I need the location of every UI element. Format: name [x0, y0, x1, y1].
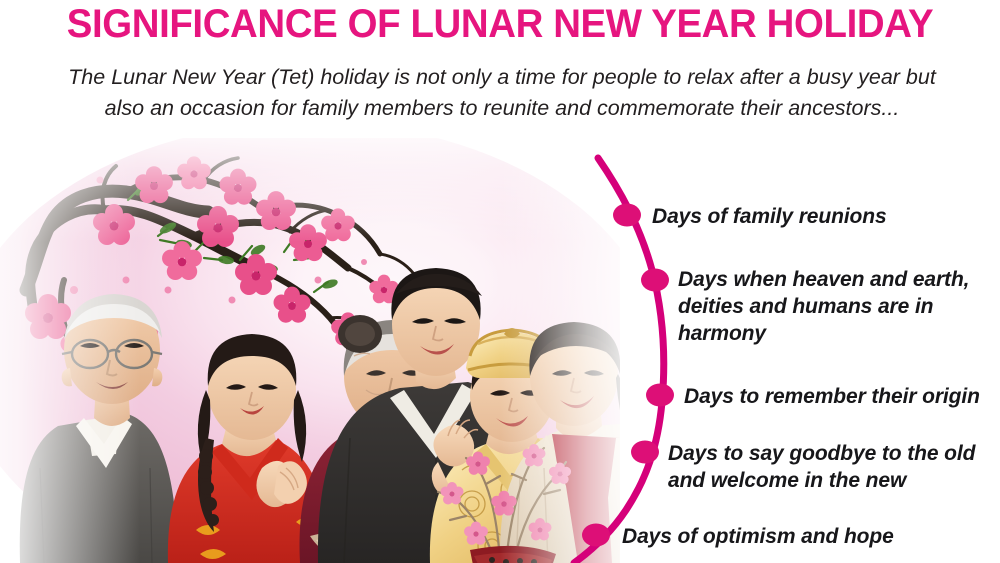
oval-fade-left: [0, 138, 140, 563]
bullet-label-5[interactable]: Days of optimism and hope: [622, 523, 982, 550]
bullet-dot-4[interactable]: [631, 441, 659, 464]
page-subtitle: The Lunar New Year (Tet) holiday is not …: [52, 62, 952, 124]
bullet-dot-5[interactable]: [582, 524, 610, 547]
bullet-dot-2[interactable]: [641, 269, 669, 292]
bullet-dot-3[interactable]: [646, 384, 674, 407]
bullet-dot-1[interactable]: [613, 204, 641, 227]
page-title: SIGNIFICANCE OF LUNAR NEW YEAR HOLIDAY: [20, 2, 980, 46]
infographic-canvas: SIGNIFICANCE OF LUNAR NEW YEAR HOLIDAY T…: [0, 0, 1000, 563]
bullet-label-1[interactable]: Days of family reunions: [652, 203, 992, 230]
bullet-label-2[interactable]: Days when heaven and earth, deities and …: [678, 266, 978, 347]
photo-area: [0, 138, 620, 563]
bullet-label-4[interactable]: Days to say goodbye to the old and welco…: [668, 440, 988, 494]
bullet-label-3[interactable]: Days to remember their origin: [684, 383, 1000, 410]
